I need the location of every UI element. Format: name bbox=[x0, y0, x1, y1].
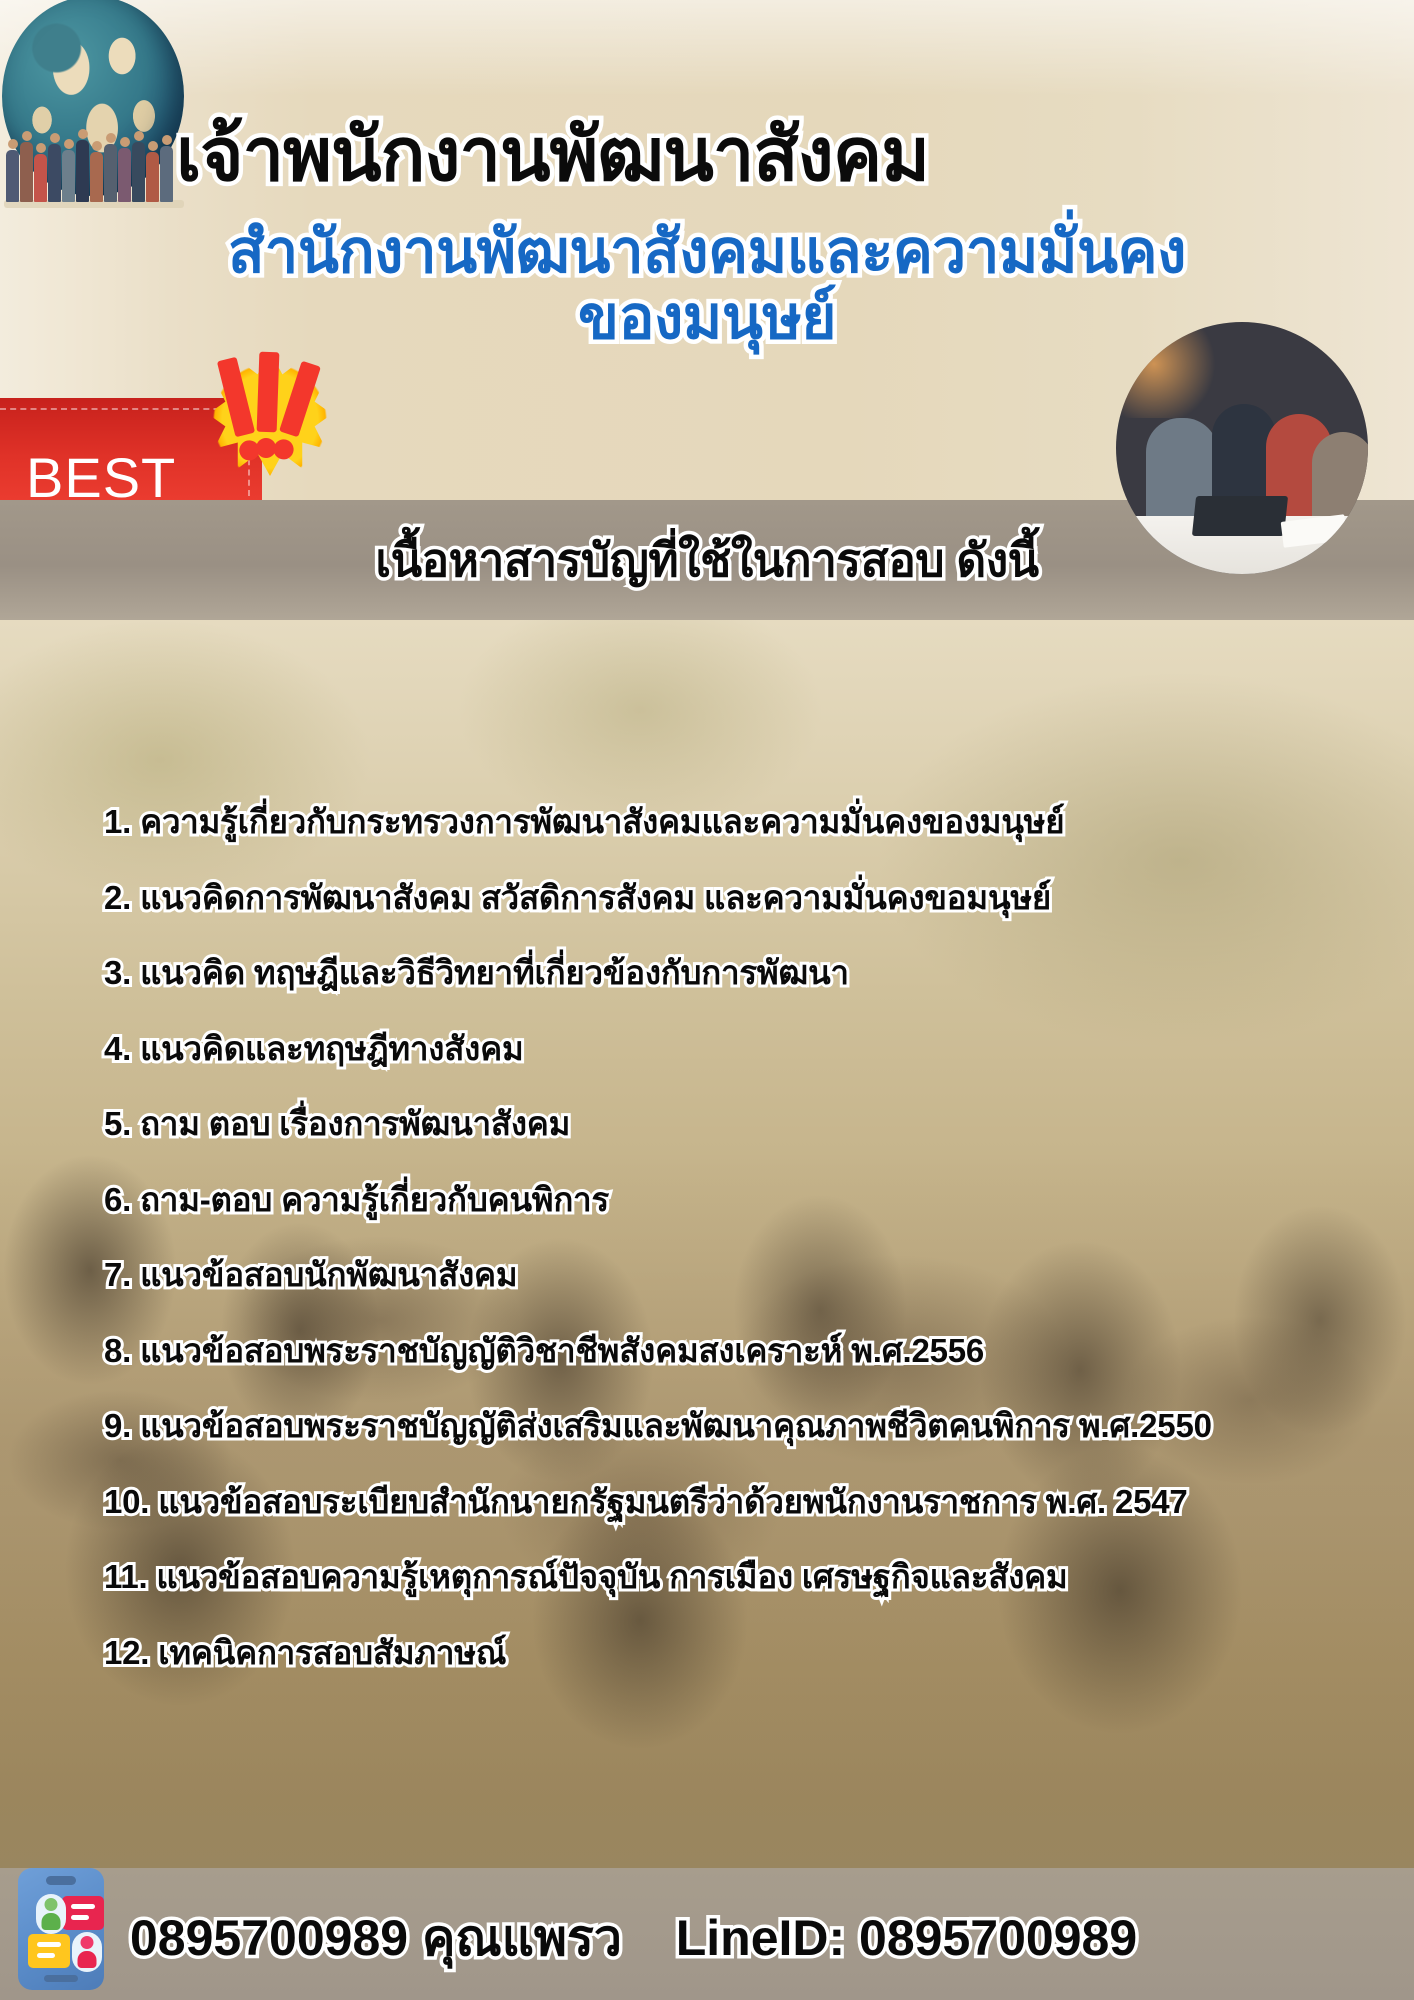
crowd-person bbox=[62, 150, 75, 202]
subtitle-line-1: สำนักงานพัฒนาสังคมและความมั่นคง bbox=[228, 218, 1186, 285]
list-item: 5. ถาม ตอบ เรื่องการพัฒนาสังคม bbox=[104, 1102, 1344, 1146]
list-item: 1. ความรู้เกี่ยวกับกระทรวงการพัฒนาสังคมแ… bbox=[104, 800, 1344, 844]
avatar-body bbox=[78, 1951, 97, 1968]
content-list: 1. ความรู้เกี่ยวกับกระทรวงการพัฒนาสังคมแ… bbox=[104, 800, 1344, 1707]
contact-card-red bbox=[62, 1896, 104, 1930]
crowd-person bbox=[118, 148, 131, 202]
photo-laptop bbox=[1192, 496, 1288, 536]
badge-best-label: BEST bbox=[26, 450, 176, 506]
crowd-person bbox=[34, 154, 47, 202]
card-line bbox=[37, 1942, 61, 1947]
crowd-person bbox=[76, 140, 89, 202]
list-item: 10. แนวข้อสอบระเบียบสำนักนายกรัฐมนตรีว่า… bbox=[104, 1480, 1344, 1524]
contact-card-yellow bbox=[28, 1934, 70, 1968]
list-item: 7. แนวข้อสอบนักพัฒนาสังคม bbox=[104, 1253, 1344, 1297]
list-item: 4. แนวคิดและทฤษฎีทางสังคม bbox=[104, 1027, 1344, 1071]
footer-phone: 0895700989 คุณแพรว bbox=[130, 1910, 622, 1966]
avatar-head bbox=[81, 1936, 94, 1949]
crowd-person bbox=[6, 150, 19, 202]
crowd-person bbox=[48, 144, 61, 202]
meeting-photo-icon bbox=[1116, 322, 1368, 574]
photo-lens-flare bbox=[1116, 328, 1226, 418]
crowd-person bbox=[132, 142, 145, 202]
phone-contact-icon bbox=[18, 1868, 104, 1990]
avatar bbox=[36, 1894, 66, 1934]
avatar-head bbox=[45, 1898, 58, 1911]
exclamation-marks-icon bbox=[257, 352, 280, 433]
list-item: 12. เทคนิคการสอบสัมภาษณ์ bbox=[104, 1631, 1344, 1675]
list-item: 3. แนวคิด ทฤษฎีและวิธีวิทยาที่เกี่ยวข้อง… bbox=[104, 951, 1344, 995]
card-line bbox=[71, 1904, 95, 1909]
avatar bbox=[72, 1932, 102, 1972]
page-title: เจ้าพนักงานพัฒนาสังคม bbox=[176, 118, 1176, 192]
card-line bbox=[37, 1953, 55, 1958]
crowd-person bbox=[90, 152, 103, 202]
crowd-person bbox=[20, 142, 33, 202]
list-item: 11. แนวข้อสอบความรู้เหตุการณ์ปัจจุบัน กา… bbox=[104, 1555, 1344, 1599]
list-item: 8. แนวข้อสอบพระราชบัญญัติวิชาชีพสังคมสงเ… bbox=[104, 1329, 1344, 1373]
footer-line-id: LineID: 0895700989 bbox=[676, 1910, 1137, 1966]
crowd-person bbox=[146, 152, 159, 202]
exam-poster: เจ้าพนักงานพัฒนาสังคม สำนักงานพัฒนาสังคม… bbox=[0, 0, 1414, 2000]
crowd-of-people-icon bbox=[4, 128, 184, 208]
background-sheen bbox=[0, 0, 1414, 96]
list-item: 6. ถาม-ตอบ ความรู้เกี่ยวกับคนพิการ bbox=[104, 1178, 1344, 1222]
crowd-person bbox=[104, 144, 117, 202]
list-item: 9. แนวข้อสอบพระราชบัญญัติส่งเสริมและพัฒน… bbox=[104, 1404, 1344, 1448]
avatar-body bbox=[42, 1913, 61, 1930]
crowd-person bbox=[160, 146, 173, 202]
footer-contact: 0895700989 คุณแพรว LineID: 0895700989 bbox=[130, 1899, 1137, 1978]
list-item: 2. แนวคิดการพัฒนาสังคม สวัสดิการสังคม แล… bbox=[104, 876, 1344, 920]
card-line bbox=[71, 1915, 89, 1920]
phone-notch bbox=[46, 1876, 76, 1885]
phone-home-bar bbox=[44, 1975, 78, 1982]
